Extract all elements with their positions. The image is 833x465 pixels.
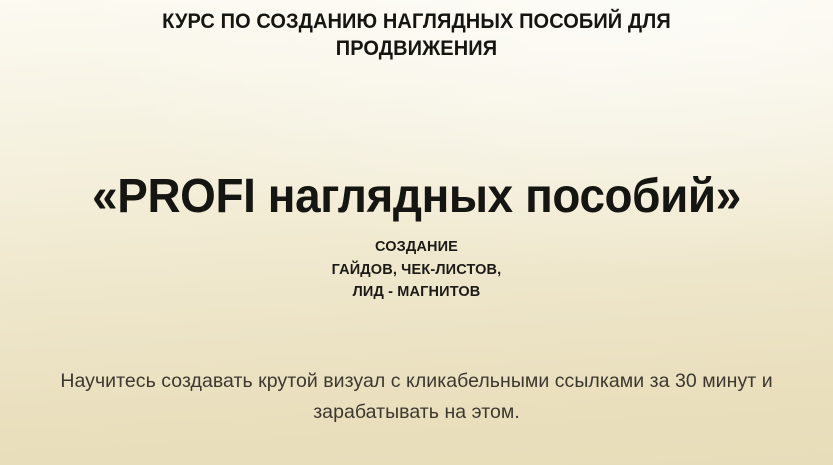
course-deliverables-list: СОЗДАНИЕ ГАЙДОВ, ЧЕК-ЛИСТОВ, ЛИД - МАГНИ… [0, 236, 833, 304]
course-kicker-line-1: КУРС ПО СОЗДАНИЮ НАГЛЯДНЫХ ПОСОБИЙ ДЛЯ [29, 8, 804, 35]
course-kicker-line-2: ПРОДВИЖЕНИЯ [29, 35, 804, 62]
course-description-line-2: зарабатывать на этом. [36, 397, 797, 428]
deliverables-line-2: ГАЙДОВ, ЧЕК-ЛИСТОВ, [0, 259, 833, 282]
deliverables-line-1: СОЗДАНИЕ [0, 236, 833, 259]
course-title: «PROFI наглядных пособий» [19, 168, 815, 226]
promo-slide: КУРС ПО СОЗДАНИЮ НАГЛЯДНЫХ ПОСОБИЙ ДЛЯ П… [0, 0, 833, 465]
course-description-line-1: Научитесь создавать крутой визуал с клик… [36, 366, 797, 397]
course-description: Научитесь создавать крутой визуал с клик… [36, 366, 797, 428]
course-kicker-heading: КУРС ПО СОЗДАНИЮ НАГЛЯДНЫХ ПОСОБИЙ ДЛЯ П… [29, 8, 804, 62]
deliverables-line-3: ЛИД - МАГНИТОВ [0, 281, 833, 304]
